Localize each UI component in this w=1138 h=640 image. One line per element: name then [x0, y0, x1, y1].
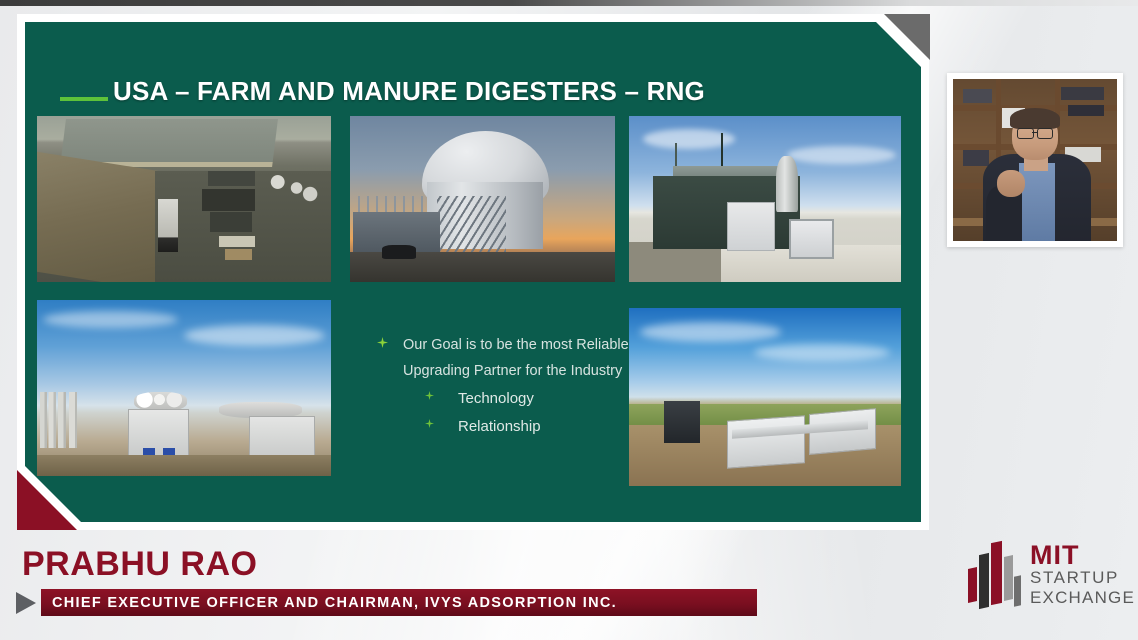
tower-shape — [776, 156, 798, 212]
top-strip — [0, 0, 1138, 6]
presentation-slide: USA – FARM AND MANURE DIGESTERS – RNG Ou… — [25, 22, 921, 522]
speaker-shirt — [1019, 163, 1055, 241]
equipment-shape — [219, 236, 254, 248]
ground-shape — [37, 455, 331, 476]
slide-photo-processing-skid — [629, 116, 901, 282]
speaker-role-text: CHIEF EXECUTIVE OFFICER AND CHAIRMAN, IV… — [41, 595, 617, 611]
bullet-text: Relationship — [458, 414, 541, 440]
ibc-tote-shape — [789, 219, 834, 260]
sparkle-bullet-icon — [425, 419, 434, 428]
cloud-shape — [43, 311, 178, 329]
speaker-role-bar: CHIEF EXECUTIVE OFFICER AND CHAIRMAN, IV… — [41, 589, 757, 616]
logo-bar — [1004, 555, 1013, 601]
bullet-item-primary: Our Goal is to be the most Reliable Upgr… — [377, 332, 637, 384]
slide-photo-rural-rng — [629, 308, 901, 486]
skid-shape — [128, 409, 189, 460]
slide-photo-aerial-lagoon — [37, 116, 331, 282]
stairs-shape — [437, 196, 506, 252]
equipment-shape — [202, 189, 255, 211]
bullet-item-sub: Relationship — [425, 414, 637, 440]
slide-photo-digester-dome — [350, 116, 615, 282]
logo-text-mit: MIT — [1030, 540, 1080, 571]
webinar-screen: USA – FARM AND MANURE DIGESTERS – RNG Ou… — [0, 0, 1138, 640]
cloud-shape — [754, 344, 890, 362]
sparkle-bullet-icon — [377, 337, 388, 348]
logo-bar — [968, 567, 977, 603]
glasses-icon — [1037, 128, 1054, 140]
process-unit-shape — [727, 416, 805, 470]
equipment-shape — [225, 249, 251, 261]
silo-cluster-shape — [40, 392, 116, 448]
logo-bar — [991, 541, 1002, 605]
speaker-video-feed[interactable] — [947, 73, 1123, 247]
cooler-unit-shape — [727, 202, 775, 250]
logo-bar — [979, 553, 989, 609]
cloud-shape — [787, 146, 896, 164]
vessel-shape — [134, 392, 187, 411]
cloud-shape — [640, 322, 781, 342]
slide-title: USA – FARM AND MANURE DIGESTERS – RNG — [113, 76, 705, 107]
book-shape — [963, 150, 989, 166]
logo-bar — [1014, 575, 1021, 606]
slide-photo-upgrading-plant — [37, 300, 331, 476]
mit-bars-icon — [966, 538, 1024, 608]
book-shape — [1068, 105, 1104, 116]
title-accent-dash — [60, 97, 108, 101]
equipment-shape — [208, 171, 255, 186]
equipment-shape — [210, 212, 251, 232]
speaker-hair — [1010, 108, 1059, 129]
tank-cluster-shape — [260, 166, 319, 206]
mit-startup-exchange-logo: MIT STARTUP EXCHANGE — [966, 534, 1126, 616]
cloud-shape — [184, 325, 325, 346]
blue-panel-shape — [163, 448, 175, 455]
speaker-name: PRABHU RAO — [22, 545, 257, 584]
glasses-bridge — [1032, 132, 1037, 134]
book-shape — [963, 89, 993, 104]
bullet-text: Our Goal is to be the most Reliable Upgr… — [403, 332, 637, 384]
car-shape — [382, 245, 416, 258]
video-content — [953, 79, 1117, 241]
trailer-shape — [158, 199, 179, 252]
speaker-hand — [997, 170, 1025, 198]
bullet-list: Our Goal is to be the most Reliable Upgr… — [377, 332, 637, 442]
sparkle-bullet-icon — [425, 391, 434, 400]
dark-unit-shape — [664, 401, 699, 444]
logo-text-startup: STARTUP — [1030, 568, 1119, 588]
glasses-icon — [1017, 128, 1034, 140]
book-shape — [1061, 87, 1104, 100]
bullet-item-sub: Technology — [425, 386, 637, 412]
bullet-text: Technology — [458, 386, 534, 412]
logo-text-exchange: EXCHANGE — [1030, 588, 1135, 608]
blue-panel-shape — [143, 448, 155, 455]
